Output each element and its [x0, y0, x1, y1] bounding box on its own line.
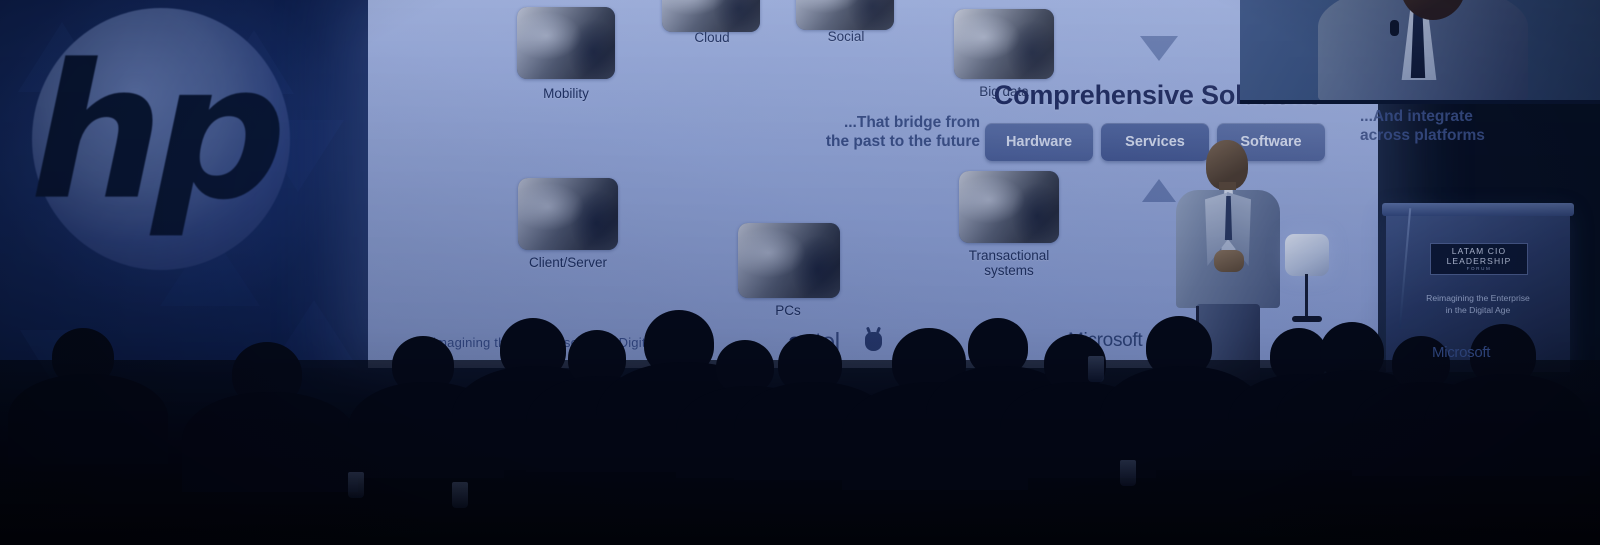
- thumbnail-transactional-systems: [959, 171, 1059, 243]
- event-badge-line3: FORUM: [1467, 266, 1492, 271]
- event-badge: LATAM CIO LEADERSHIP FORUM: [1430, 243, 1528, 275]
- thumbnail-label-social: Social: [767, 29, 925, 44]
- event-tagline-text: Reimagining the Enterprise in the Digita…: [416, 335, 683, 350]
- triangle-up-icon: [1142, 179, 1176, 202]
- thumbnail-label-mobility: Mobility: [487, 86, 645, 101]
- slide-note-right: ...And integrate across platforms: [1360, 108, 1540, 146]
- axtel-logo-tel: tel: [815, 328, 840, 356]
- monitor-base: [1292, 316, 1322, 322]
- axtel-logo-ax: ax: [788, 328, 815, 356]
- lapel-microphone-icon: [1390, 20, 1399, 36]
- hp-logo: [32, 8, 290, 270]
- speaker-leg-divider: [1196, 306, 1199, 368]
- microsoft-logo: Microsoft: [1068, 330, 1142, 352]
- pill-hardware: Hardware: [985, 123, 1093, 161]
- thumbnail-social: [796, 0, 894, 30]
- monitor-stand: [1305, 274, 1308, 320]
- confidence-monitor: [1285, 234, 1329, 276]
- thumbnail-client-server: [518, 178, 618, 250]
- thumbnail-cloud: [662, 0, 760, 32]
- triangle-down-icon: [1140, 36, 1178, 61]
- microsoft-logo-right: Microsoft: [1432, 344, 1490, 361]
- conference-stage-photo: Mobility Cloud Social Big data Comprehen…: [0, 0, 1600, 545]
- slide-note-left: ...That bridge from the past to the futu…: [800, 114, 980, 152]
- thumbnail-label-transactional-systems: Transactional systems: [929, 248, 1089, 278]
- video-screen-inset: [1240, 0, 1600, 104]
- event-badge-line2: LEADERSHIP: [1447, 257, 1512, 267]
- thumbnail-label-client-server: Client/Server: [488, 255, 648, 270]
- thumbnail-big-data: [954, 9, 1054, 79]
- thumbnail-mobility: [517, 7, 615, 79]
- axtel-mascot-icon: [865, 332, 882, 351]
- speaker-on-stage: [1172, 140, 1284, 372]
- thumbnail-label-pcs: PCs: [708, 303, 868, 318]
- podium-tagline: Reimagining the Enterprise in the Digita…: [1394, 292, 1562, 317]
- axtel-logo: axtel: [788, 328, 840, 357]
- thumbnail-pcs: [738, 223, 840, 298]
